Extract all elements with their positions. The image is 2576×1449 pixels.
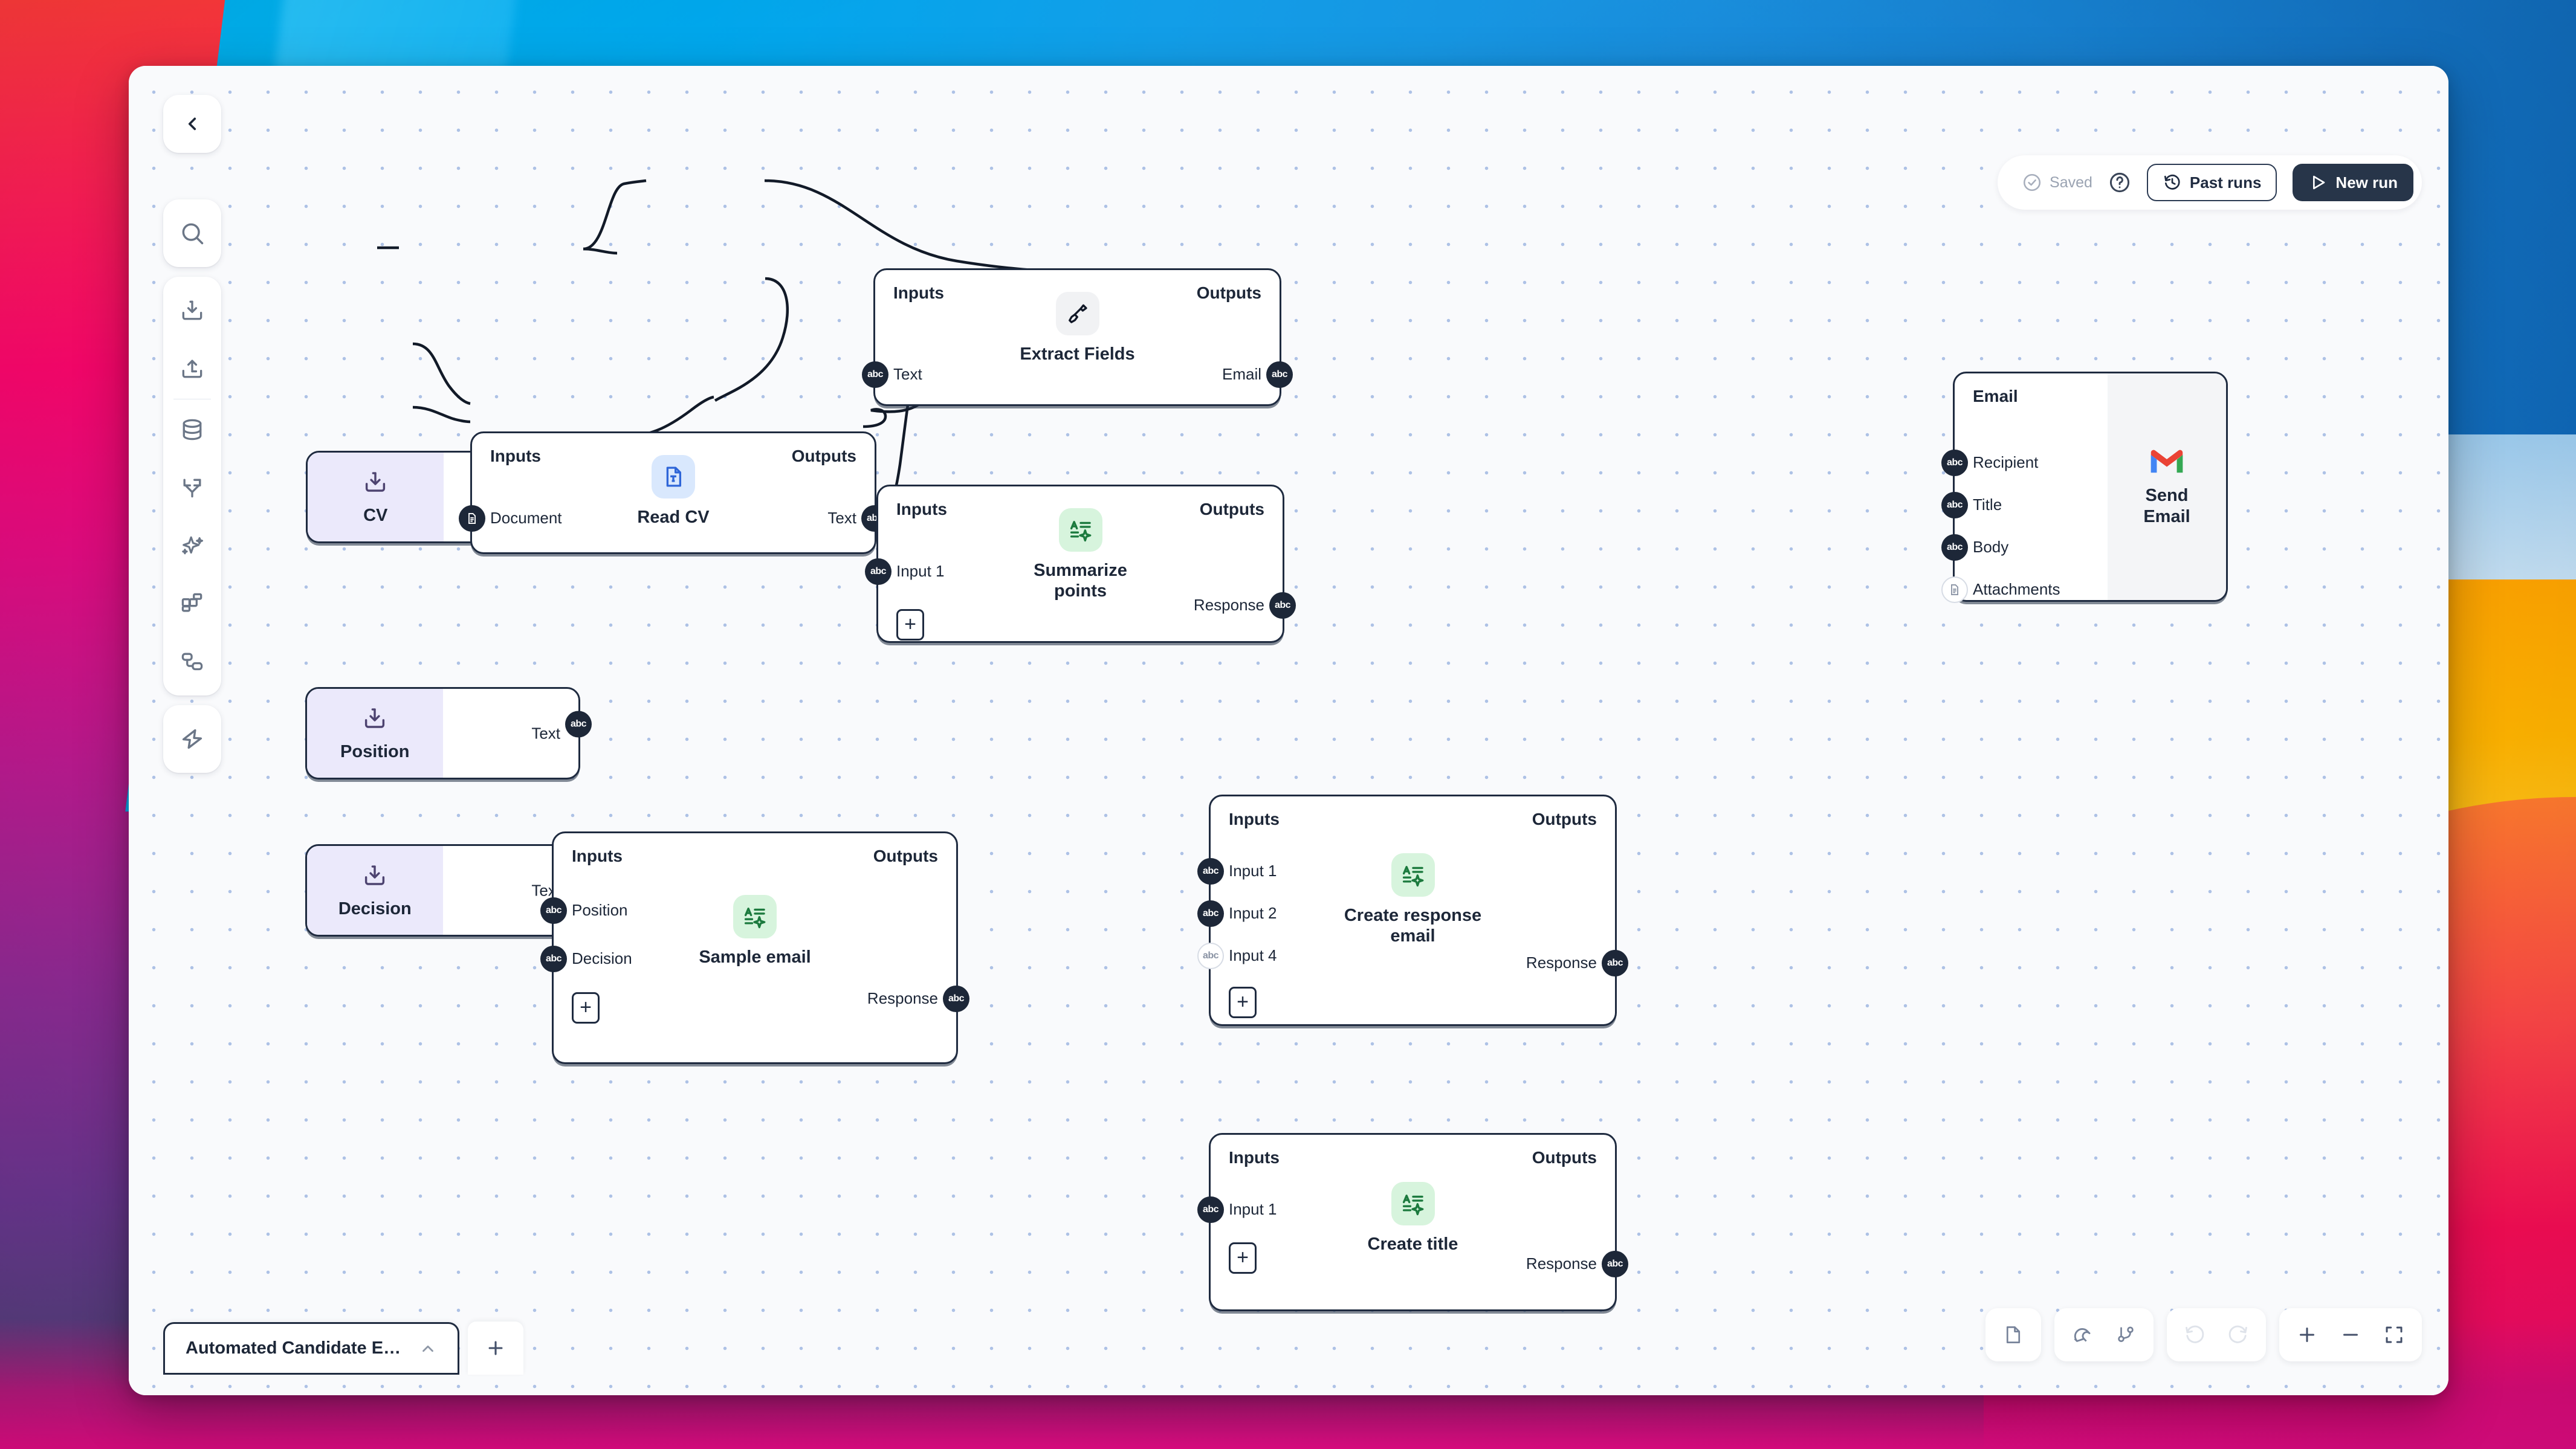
undo-arrow-icon	[2183, 1323, 2206, 1346]
port-badge: abc	[1947, 500, 1963, 511]
port-badge: abc	[1272, 369, 1287, 380]
add-input-label: +	[580, 1001, 592, 1015]
add-tab-button[interactable]	[468, 1322, 523, 1375]
node-email-field-recipient: abc Recipient	[1973, 453, 2038, 472]
add-input-button-sample[interactable]: +	[572, 992, 600, 1024]
node-summarize-input-row: abc Input 1	[896, 562, 945, 581]
play-triangle-icon	[2308, 173, 2328, 192]
port-email-attachments[interactable]	[1941, 576, 1968, 603]
node-create-title-output-row: abc Response	[1526, 1254, 1597, 1273]
sidebar-item-export[interactable]	[163, 340, 221, 398]
undo-button[interactable]	[2173, 1313, 2216, 1357]
add-input-label: +	[904, 618, 916, 632]
node-extract-output-row: abc Email	[1222, 365, 1261, 384]
node-decision[interactable]: Decision abc Text	[305, 844, 580, 937]
toolbar-group-history	[2167, 1308, 2266, 1361]
node-email-field-attachments: Attachments	[1973, 580, 2060, 599]
sidebar-item-import[interactable]	[163, 282, 221, 340]
node-email-action-label: Send Email	[2121, 485, 2212, 526]
node-read-cv-output-row: abc Text	[827, 509, 856, 528]
node-position-output-row: abc Text	[531, 724, 560, 743]
node-response-input-row-1: abc Input 1	[1229, 862, 1277, 880]
add-input-label: +	[1237, 995, 1249, 1010]
input-download-icon	[361, 705, 389, 732]
node-create-title[interactable]: Inputs Outputs Create title abc Input 1	[1209, 1133, 1617, 1311]
outputs-label: Outputs	[1197, 283, 1261, 303]
port-summarize-response[interactable]: abc	[1269, 592, 1296, 619]
blocks-icon	[179, 590, 205, 617]
port-badge: abc	[1203, 866, 1218, 877]
fullscreen-icon	[2383, 1324, 2405, 1346]
node-position-body: abc Text	[443, 689, 579, 778]
port-response-input-1[interactable]: abc	[1197, 858, 1224, 885]
past-runs-button[interactable]: Past runs	[2147, 164, 2277, 201]
node-response-input-row-2: abc Input 2	[1229, 904, 1277, 923]
back-button[interactable]	[163, 95, 221, 153]
node-extract-fields[interactable]: Inputs Outputs Extract Fields abc Text a…	[873, 268, 1281, 406]
workflow-editor-window: Saved Past runs New run	[129, 66, 2448, 1395]
help-button[interactable]	[2108, 171, 2131, 194]
page-icon	[2002, 1324, 2024, 1346]
left-toolbar	[163, 199, 221, 773]
sidebar-item-automations[interactable]	[163, 710, 221, 768]
file-icon	[1948, 583, 1961, 596]
chevron-up-icon[interactable]	[419, 1340, 437, 1358]
port-badge: abc	[1203, 908, 1218, 919]
toolbar-group-search	[163, 199, 221, 267]
node-email-fields: Email abc Recipient abc Title abc Body	[1955, 373, 2108, 600]
node-sample-email[interactable]: Inputs Outputs Sample email abc Position	[552, 831, 958, 1064]
port-badge: abc	[1947, 457, 1963, 468]
port-badge: abc	[1203, 1204, 1218, 1215]
add-input-button-summarize[interactable]: +	[896, 609, 924, 641]
input-download-icon	[361, 862, 389, 889]
node-response-input-label-2: Input 2	[1229, 904, 1277, 923]
port-create-title-response[interactable]: abc	[1602, 1251, 1628, 1277]
port-badge: abc	[571, 718, 586, 729]
node-summarize-points[interactable]: Inputs Outputs Summarize points abc Inpu…	[876, 485, 1284, 643]
history-clock-icon	[2163, 173, 2182, 192]
inputs-label: Inputs	[572, 847, 623, 866]
fit-view-button[interactable]	[2372, 1313, 2416, 1357]
node-response-input-label-1: Input 1	[1229, 862, 1277, 880]
outputs-label: Outputs	[792, 447, 856, 466]
port-badge: abc	[948, 993, 964, 1004]
outputs-label: Outputs	[873, 847, 938, 866]
check-circle-icon	[2022, 172, 2042, 193]
tab-automated-candidate[interactable]: Automated Candidate E…	[163, 1322, 459, 1375]
path-branch-icon	[2115, 1324, 2137, 1346]
node-position[interactable]: Position abc Text	[305, 687, 580, 779]
toolbar-group-zoom	[2279, 1308, 2422, 1361]
status-badge: Saved	[2022, 172, 2092, 193]
node-sample-input-label-2: Decision	[572, 949, 632, 968]
node-read-cv-input-label: Document	[490, 509, 562, 528]
node-response-output-label: Response	[1526, 954, 1597, 972]
edge-style-button[interactable]	[2104, 1313, 2147, 1357]
sidebar-item-branch[interactable]	[163, 459, 221, 517]
sidebar-item-blocks[interactable]	[163, 575, 221, 633]
port-badge: abc	[1203, 950, 1218, 961]
node-cv-title: CV	[363, 506, 387, 526]
port-email-title[interactable]: abc	[1941, 492, 1968, 518]
plus-icon	[485, 1338, 506, 1358]
toolbar-group-canvas-modes	[2054, 1308, 2154, 1361]
port-badge: abc	[1607, 1259, 1623, 1270]
node-create-title-output-label: Response	[1526, 1254, 1597, 1273]
node-email-label-attachments: Attachments	[1973, 580, 2060, 599]
sidebar-item-database[interactable]	[163, 401, 221, 459]
node-extract-input-row: abc Text	[893, 365, 922, 384]
node-decision-title: Decision	[338, 899, 412, 919]
zoom-out-button[interactable]	[2329, 1313, 2372, 1357]
search-icon	[179, 220, 205, 247]
port-response-input-4[interactable]: abc	[1197, 943, 1224, 969]
port-badge: abc	[1947, 542, 1963, 553]
port-create-title-input-1[interactable]: abc	[1197, 1196, 1224, 1223]
node-summarize-input-label: Input 1	[896, 562, 945, 581]
magnet-icon	[2071, 1323, 2094, 1346]
upload-outbox-icon	[179, 355, 205, 382]
node-position-title: Position	[340, 742, 409, 762]
question-circle-icon	[2108, 171, 2131, 194]
node-response-output-row: abc Response	[1526, 954, 1597, 972]
download-inbox-icon	[179, 297, 205, 324]
node-read-cv-io: Inputs Outputs	[472, 433, 875, 552]
node-email-label-title: Title	[1973, 495, 2002, 514]
node-email-label-body: Body	[1973, 538, 2008, 557]
inputs-label: Inputs	[893, 283, 944, 303]
node-extract-input-label: Text	[893, 365, 922, 384]
minus-icon	[2340, 1324, 2361, 1346]
port-extract-text[interactable]: abc	[862, 361, 888, 388]
port-email-recipient[interactable]: abc	[1941, 450, 1968, 476]
node-sample-io: Inputs Outputs	[554, 833, 956, 1062]
port-badge: abc	[546, 954, 561, 964]
port-response-input-2[interactable]: abc	[1197, 900, 1224, 927]
node-email-action: Send Email	[2108, 373, 2226, 600]
node-email-label-recipient: Recipient	[1973, 453, 2038, 472]
toolbar-group-blocks	[163, 277, 221, 695]
input-download-icon	[361, 468, 389, 496]
add-note-button[interactable]	[1992, 1313, 2035, 1357]
port-summarize-input-1[interactable]: abc	[865, 558, 892, 585]
inputs-label: Inputs	[896, 500, 947, 519]
node-create-title-io: Inputs Outputs	[1211, 1135, 1615, 1309]
inputs-label: Inputs	[1229, 810, 1280, 829]
lightning-bolt-icon	[178, 725, 206, 753]
tab-bar: Automated Candidate E…	[163, 1322, 523, 1375]
node-cv-header: CV	[308, 453, 444, 541]
split-arrows-icon	[179, 474, 205, 501]
gmail-icon	[2148, 447, 2186, 476]
add-input-label: +	[1237, 1251, 1249, 1265]
sidebar-item-ai[interactable]	[163, 517, 221, 575]
node-response-input-row-3: abc Input 4	[1229, 946, 1277, 965]
node-email[interactable]: Email abc Recipient abc Title abc Body	[1953, 372, 2228, 602]
node-create-response-email[interactable]: Inputs Outputs Create response email abc…	[1209, 795, 1617, 1026]
canvas-toolbar	[1985, 1308, 2422, 1361]
nodes-link-icon	[179, 648, 205, 675]
back-chevron-icon	[182, 114, 202, 134]
port-position-text[interactable]: abc	[565, 711, 592, 737]
port-badge: abc	[1607, 958, 1623, 969]
node-read-cv[interactable]: Inputs Outputs Read CV Document	[470, 431, 876, 554]
outputs-label: Outputs	[1532, 1148, 1597, 1167]
node-decision-header: Decision	[307, 846, 443, 935]
node-email-title: Email	[1973, 387, 2089, 406]
node-read-cv-output-label: Text	[827, 509, 856, 528]
node-position-output-label: Text	[531, 724, 560, 743]
port-sample-decision[interactable]: abc	[540, 946, 567, 972]
toolbar-divider	[173, 399, 211, 399]
zoom-in-button[interactable]	[2285, 1313, 2329, 1357]
node-summarize-output-label: Response	[1194, 596, 1264, 615]
new-run-label: New run	[2335, 173, 2398, 192]
node-email-field-body: abc Body	[1973, 538, 2008, 557]
node-create-title-input-label: Input 1	[1229, 1200, 1277, 1219]
plus-icon	[2296, 1324, 2318, 1346]
node-read-cv-input-row: Document	[490, 509, 562, 528]
magnet-snap-button[interactable]	[2060, 1313, 2104, 1357]
toolbar-group-automations	[163, 705, 221, 773]
port-sample-position[interactable]: abc	[540, 897, 567, 924]
node-email-field-title: abc Title	[1973, 495, 2002, 514]
add-input-button-create-title[interactable]: +	[1229, 1242, 1257, 1274]
port-badge: abc	[867, 369, 883, 380]
node-create-title-input-row: abc Input 1	[1229, 1200, 1277, 1219]
database-icon	[179, 416, 205, 443]
node-sample-input-row-2: abc Decision	[572, 949, 632, 968]
topbar-actions: Saved Past runs New run	[1998, 155, 2422, 210]
outputs-label: Outputs	[1532, 810, 1597, 829]
inputs-label: Inputs	[1229, 1148, 1280, 1167]
node-sample-output-label: Response	[867, 989, 938, 1008]
redo-arrow-icon	[2227, 1323, 2250, 1346]
port-email-body[interactable]: abc	[1941, 534, 1968, 561]
toolbar-group-note	[1985, 1308, 2041, 1361]
saved-label: Saved	[2050, 174, 2092, 192]
add-input-button-response[interactable]: +	[1229, 987, 1257, 1018]
node-extract-output-label: Email	[1222, 365, 1261, 384]
port-sample-response[interactable]: abc	[943, 986, 969, 1012]
node-sample-input-label-1: Position	[572, 901, 628, 920]
port-badge: abc	[1275, 600, 1290, 611]
node-extract-io: Inputs Outputs	[875, 270, 1280, 404]
port-read-cv-document[interactable]	[459, 505, 485, 532]
port-badge: abc	[546, 905, 561, 916]
port-extract-email[interactable]: abc	[1266, 361, 1293, 388]
past-runs-label: Past runs	[2190, 173, 2262, 192]
node-sample-output-row: abc Response	[867, 989, 938, 1008]
node-sample-input-row-1: abc Position	[572, 901, 628, 920]
port-badge: abc	[870, 566, 886, 577]
node-position-header: Position	[307, 689, 443, 778]
node-response-input-label-3: Input 4	[1229, 946, 1277, 965]
inputs-label: Inputs	[490, 447, 541, 466]
sparkles-icon	[179, 532, 205, 559]
tab-label: Automated Candidate E…	[186, 1338, 401, 1358]
outputs-label: Outputs	[1200, 500, 1264, 519]
sidebar-item-flow[interactable]	[163, 633, 221, 691]
file-icon	[465, 512, 479, 525]
port-response-response[interactable]: abc	[1602, 950, 1628, 976]
node-summarize-output-row: abc Response	[1194, 596, 1264, 615]
sidebar-item-search[interactable]	[163, 204, 221, 262]
new-run-button[interactable]: New run	[2293, 164, 2413, 201]
redo-button[interactable]	[2216, 1313, 2260, 1357]
